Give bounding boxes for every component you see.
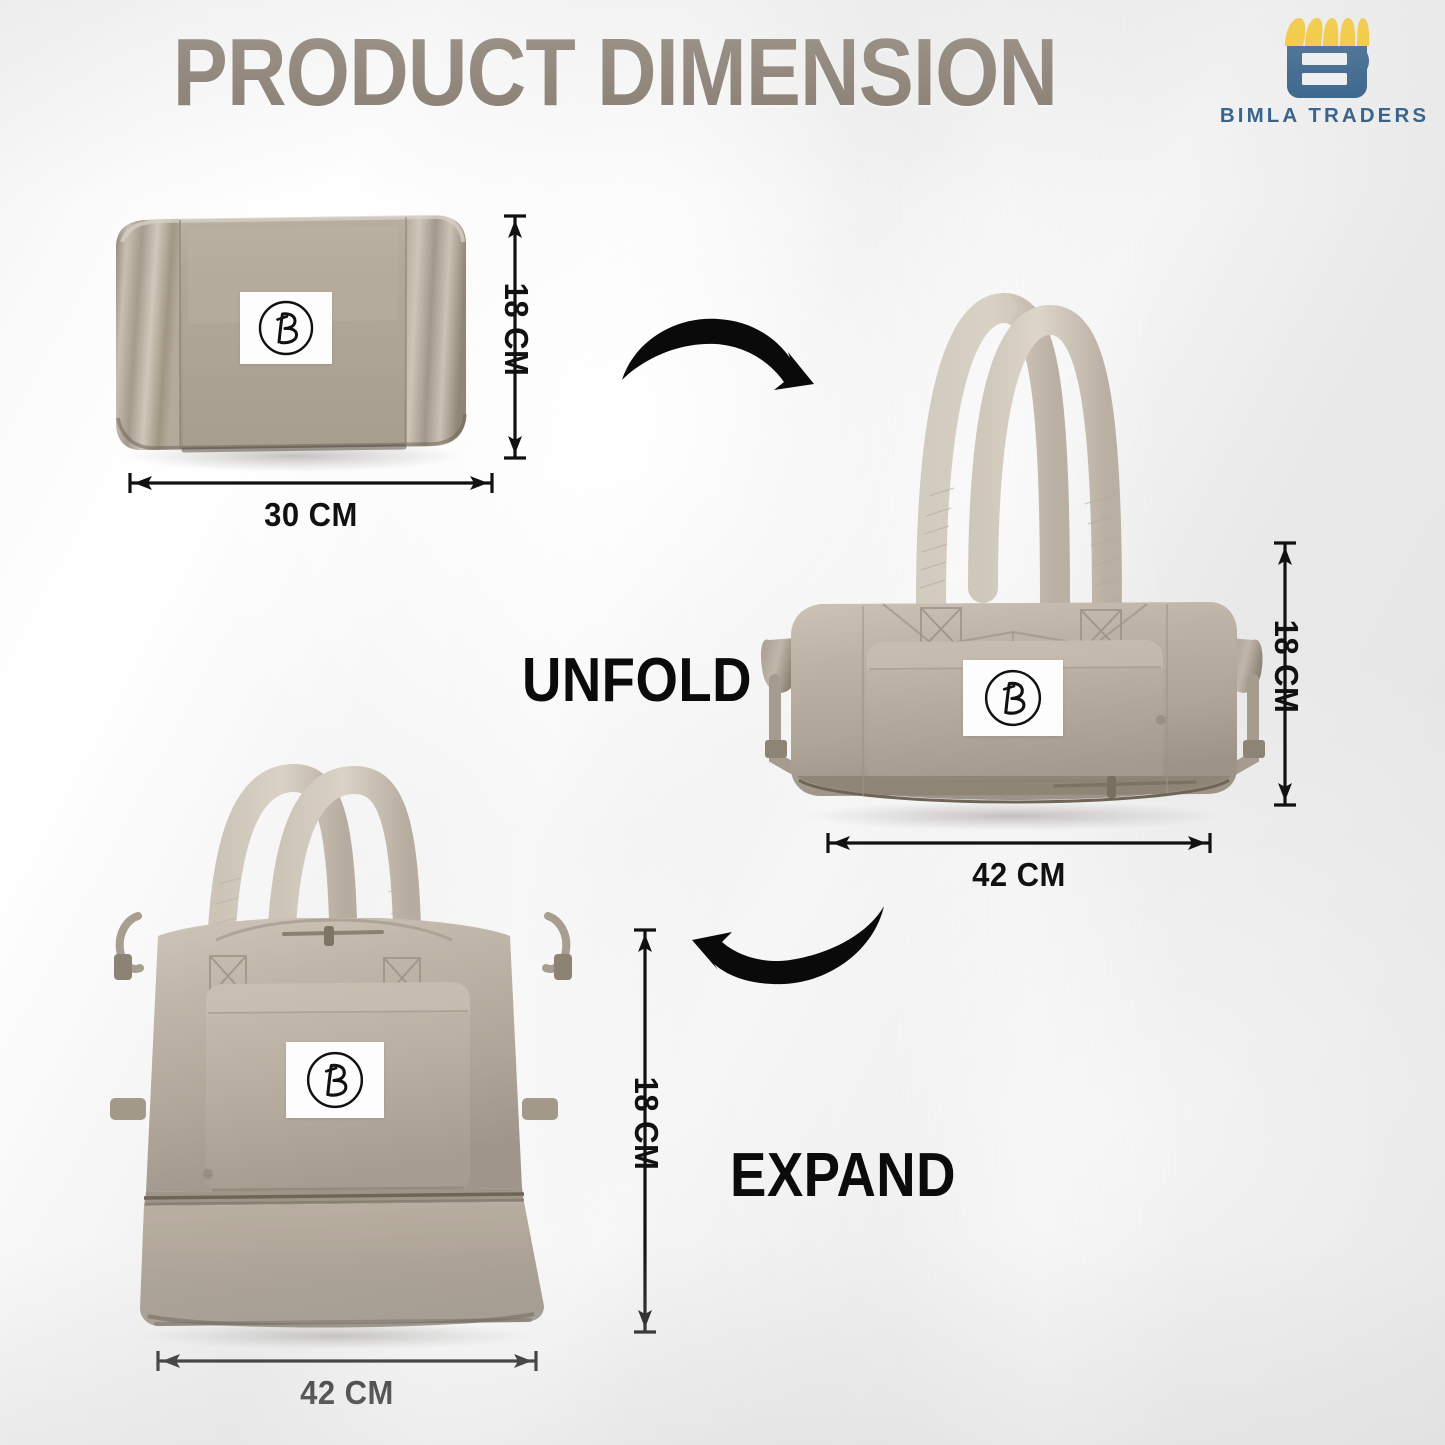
circle-b-monogram-icon bbox=[981, 666, 1045, 730]
step-label-unfold: UNFOLD bbox=[522, 645, 752, 716]
unfolded-duffel-illustration bbox=[755, 288, 1275, 833]
unfolded-duffel-bag-image bbox=[755, 288, 1275, 833]
dimension-folded-width: 30 CM bbox=[122, 470, 500, 496]
dimension-unfolded-width-label: 42 CM bbox=[832, 856, 1206, 894]
infographic-canvas: PRODUCT DIMENSION BIMLA TRADERS bbox=[0, 0, 1445, 1445]
dimension-folded-width-label: 30 CM bbox=[133, 496, 488, 534]
folded-bag-image bbox=[88, 200, 488, 470]
dimension-expanded-height-label: 18 CM bbox=[627, 1077, 665, 1160]
expanded-tote-bag-image bbox=[48, 768, 623, 1350]
brand-logo: BIMLA TRADERS bbox=[1222, 12, 1427, 144]
brand-name: BIMLA TRADERS bbox=[1220, 104, 1429, 128]
dimension-expanded-height: 18 CM bbox=[628, 922, 662, 1340]
circle-b-monogram-icon bbox=[303, 1048, 367, 1112]
dimension-expanded-width-label: 42 CM bbox=[162, 1374, 532, 1412]
page-title: PRODUCT DIMENSION bbox=[86, 24, 1144, 122]
circle-b-monogram-icon bbox=[255, 297, 317, 359]
brand-label-patch-expanded bbox=[286, 1042, 384, 1118]
dimension-folded-height-label: 18 CM bbox=[497, 283, 535, 366]
dimension-unfolded-width: 42 CM bbox=[820, 830, 1218, 856]
dimension-unfolded-height-label: 18 CM bbox=[1267, 620, 1305, 703]
brand-label-patch-folded bbox=[240, 292, 332, 364]
dimension-unfolded-height: 18 CM bbox=[1268, 535, 1302, 813]
brand-label-patch-unfolded bbox=[963, 660, 1063, 736]
storefront-b-icon bbox=[1277, 12, 1373, 100]
step-label-expand: EXPAND bbox=[730, 1140, 956, 1211]
dimension-folded-height: 18 CM bbox=[498, 208, 532, 466]
dimension-expanded-width: 42 CM bbox=[150, 1348, 544, 1374]
curved-arrow-left-down-icon bbox=[688, 898, 888, 1028]
